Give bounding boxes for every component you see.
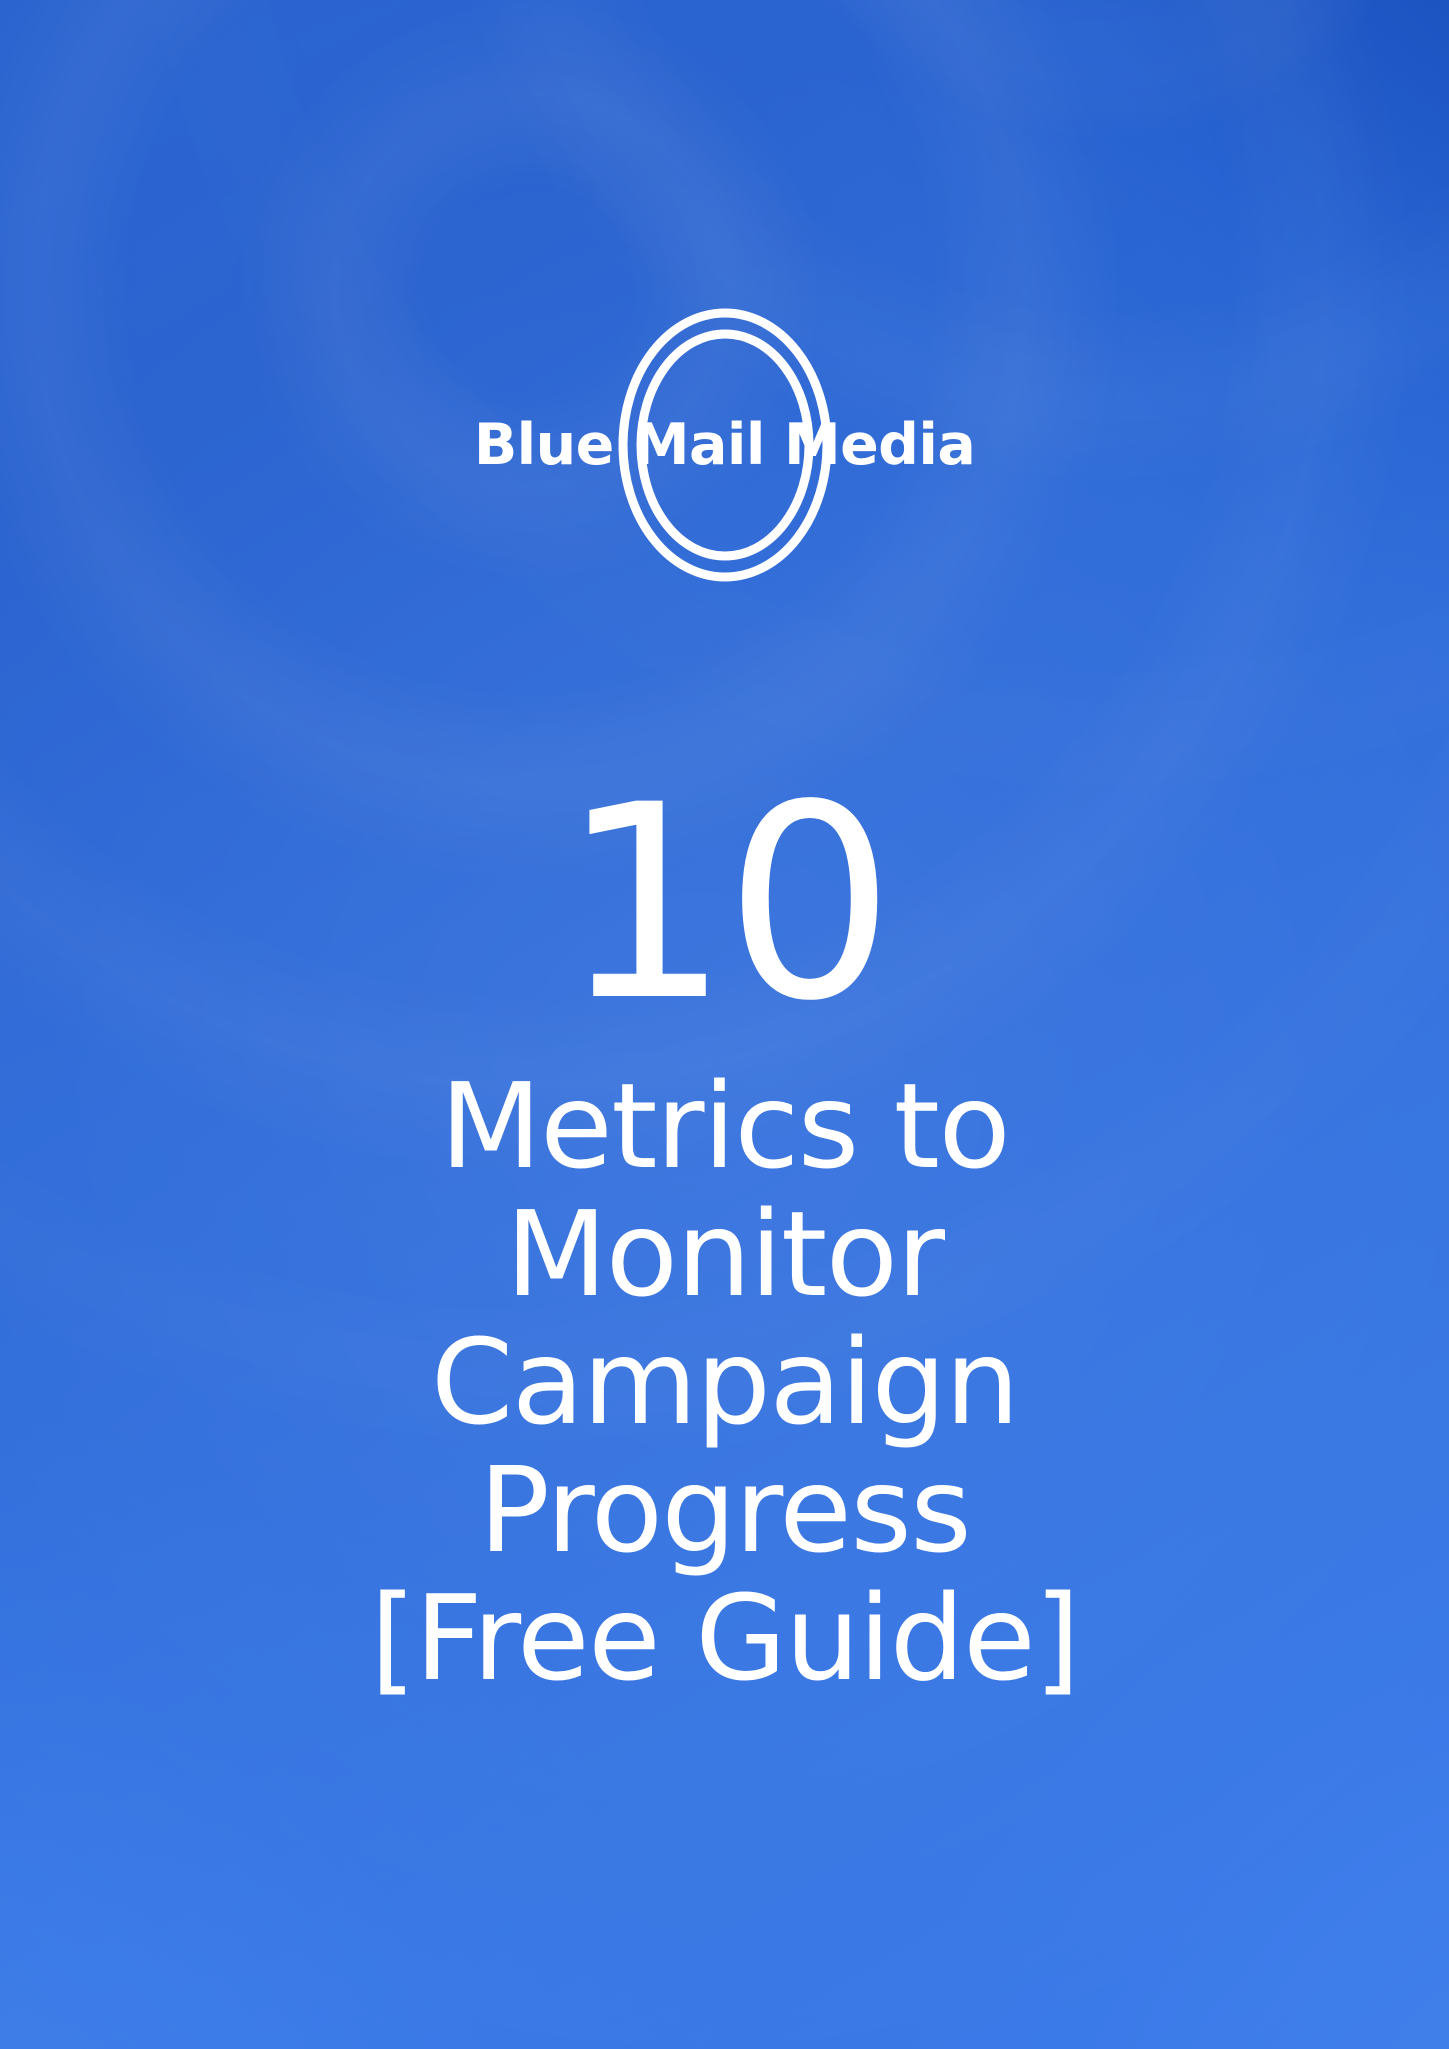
cover-number: 10 [0, 770, 1449, 1038]
ebook-cover-page: Blue Mail Media 10 Metrics to Monitor Ca… [0, 0, 1449, 2049]
logo-wordmark: Blue Mail Media [468, 417, 981, 474]
title-line-2: Monitor [0, 1190, 1449, 1318]
title-line-4: Progress [0, 1446, 1449, 1574]
brand-logo: Blue Mail Media [0, 300, 1449, 590]
logo-lockup: Blue Mail Media [490, 300, 960, 590]
title-line-5: [Free Guide] [0, 1574, 1449, 1702]
title-line-3: Campaign [0, 1318, 1449, 1446]
cover-title: Metrics to Monitor Campaign Progress [Fr… [0, 1062, 1449, 1702]
cover-content: Blue Mail Media 10 Metrics to Monitor Ca… [0, 0, 1449, 2049]
title-line-1: Metrics to [0, 1062, 1449, 1190]
